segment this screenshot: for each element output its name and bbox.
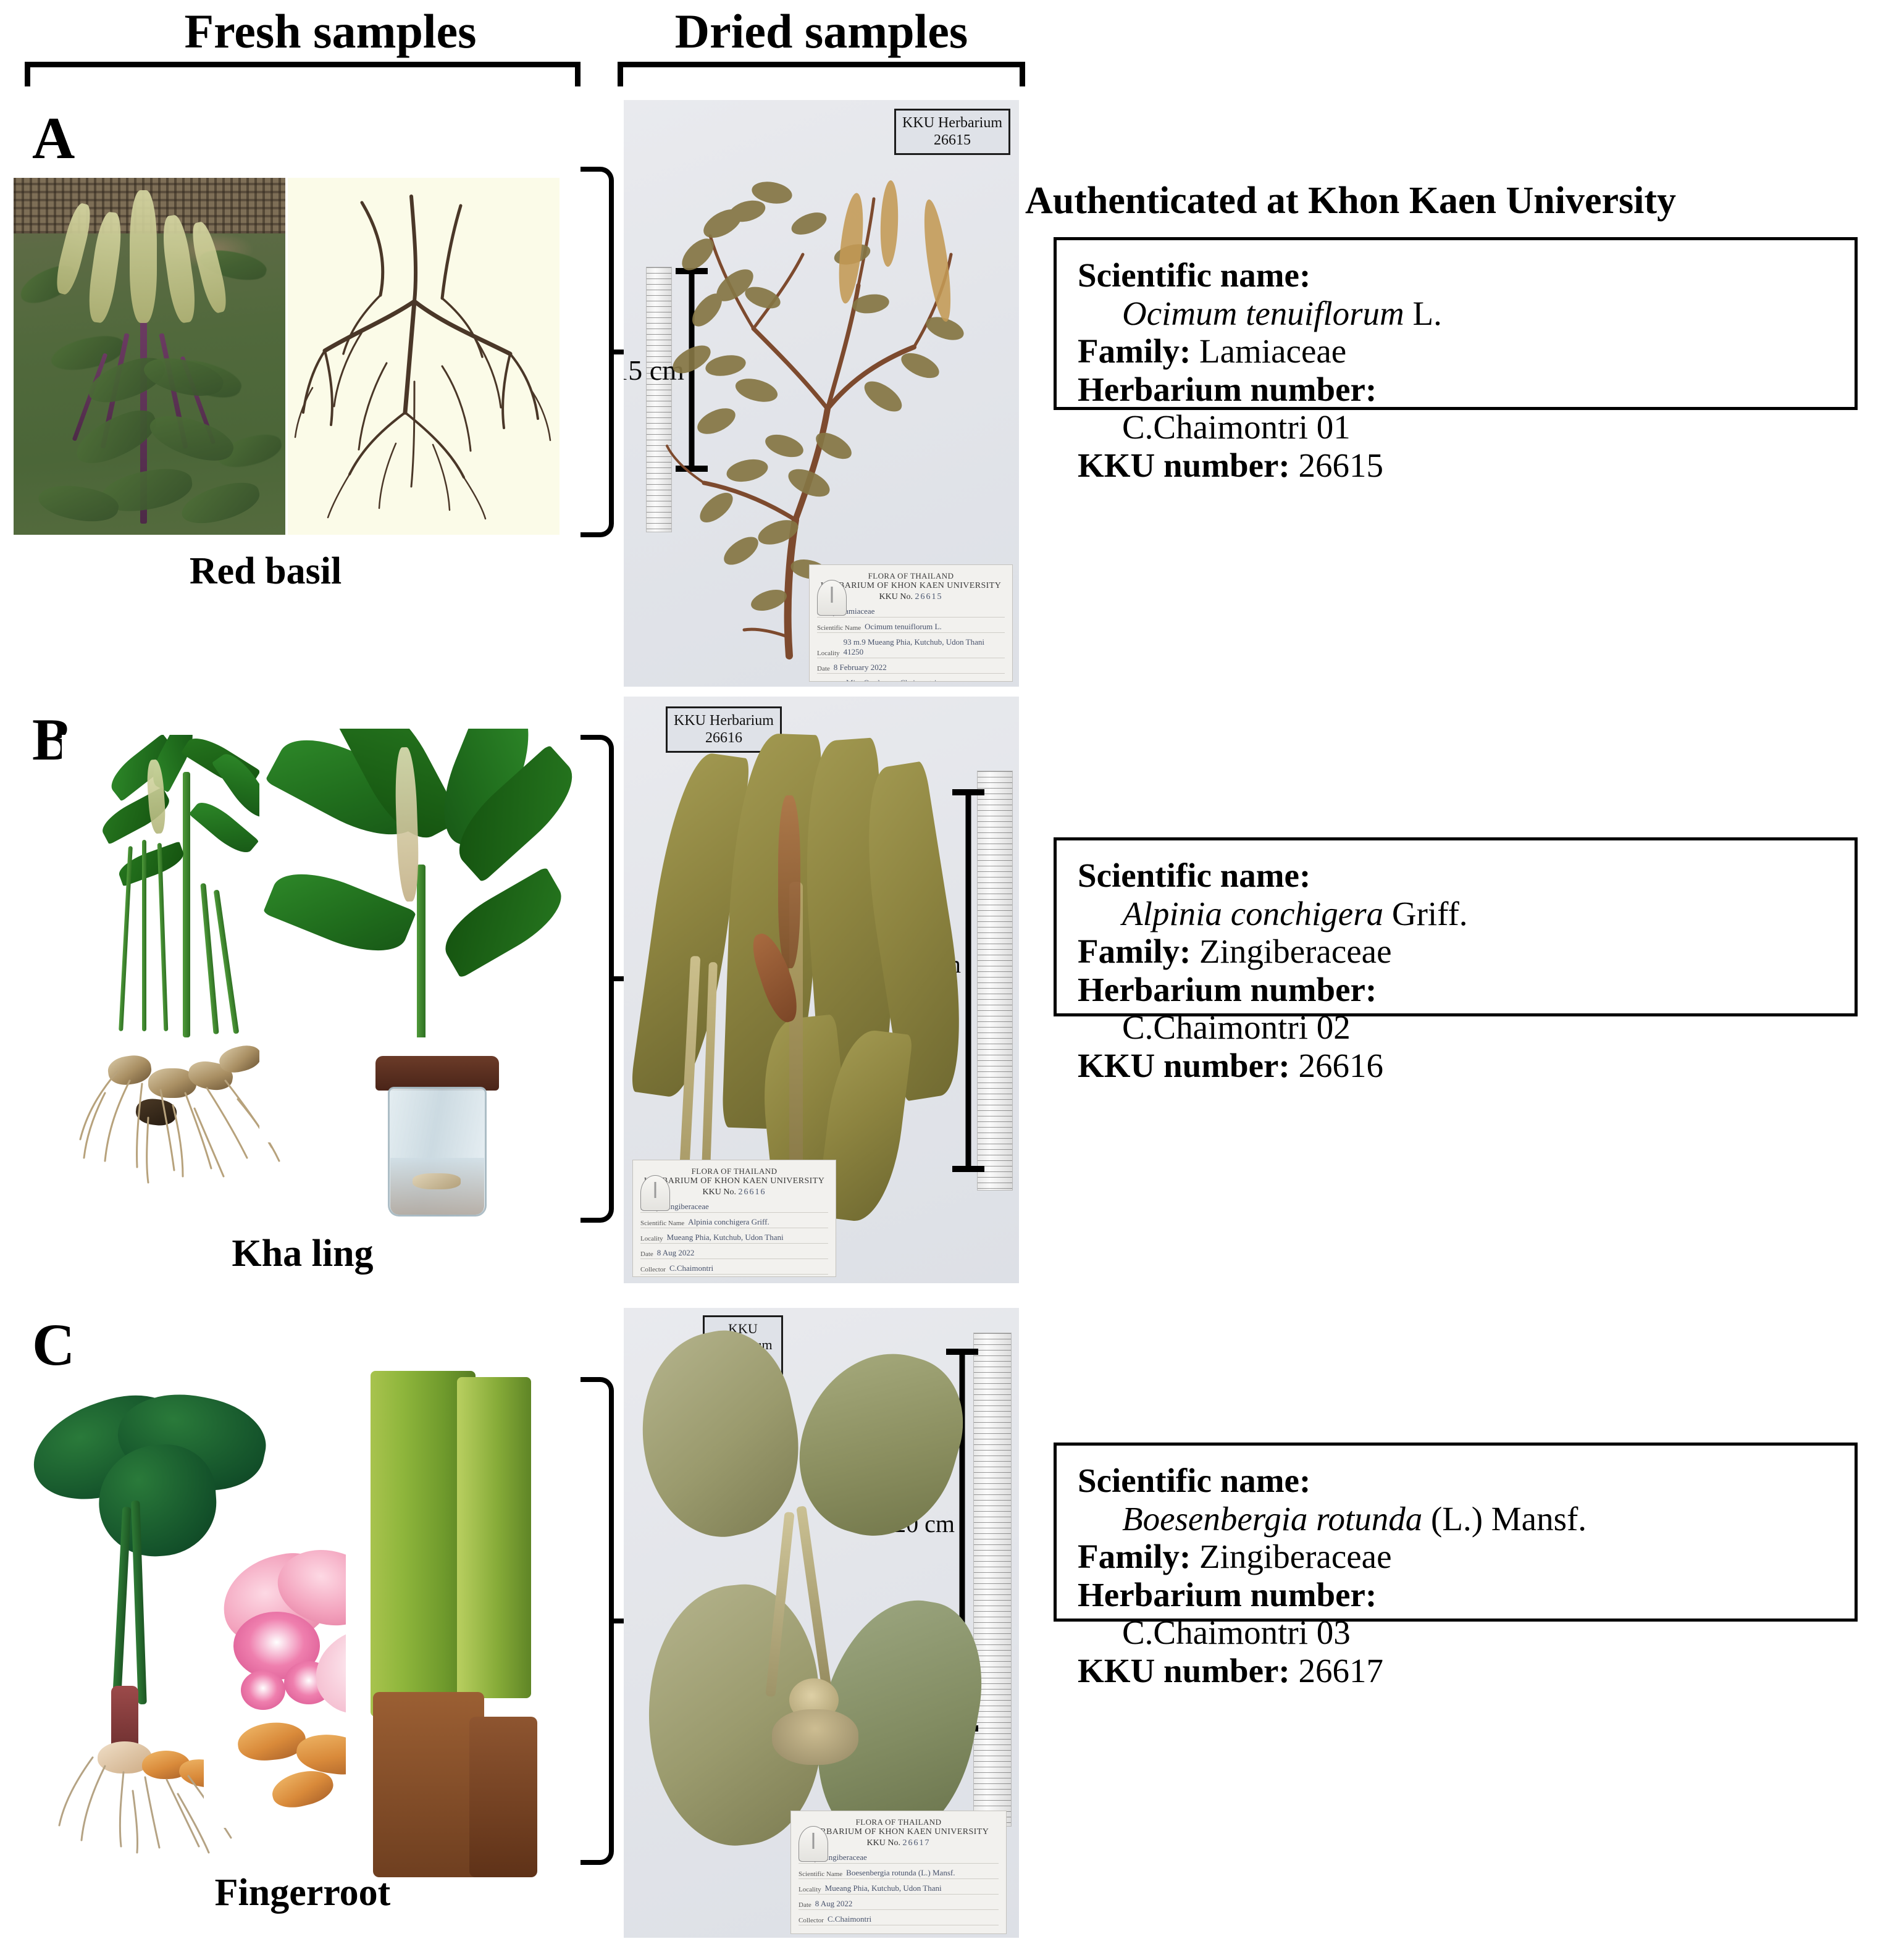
dried-specimen-sheet-a: KKU Herbarium 26615 15 cm	[624, 100, 1019, 687]
label-family-a: Family:	[1078, 332, 1191, 370]
fresh-photo-kha-ling-jar-sample	[351, 1037, 530, 1241]
voucher-field-date: Date	[799, 1901, 811, 1909]
value-authority-a: L.	[1404, 295, 1442, 332]
voucher-field-sciname: Scientific Name	[817, 624, 861, 632]
info-box-c: Scientific name: Boesenbergia rotunda (L…	[1054, 1443, 1858, 1622]
voucher-field-date: Date	[817, 665, 830, 672]
voucher-value-family-c: Zingiberaceae	[821, 1853, 999, 1862]
value-herbarium-number-b: C.Chaimontri 02	[1122, 1008, 1351, 1046]
value-authority-c: (L.) Mansf.	[1422, 1500, 1587, 1538]
label-herbarium-number-b: Herbarium number:	[1078, 971, 1377, 1008]
value-family-a: Lamiaceae	[1199, 332, 1346, 370]
figure-root: Fresh samples Dried samples A B C	[0, 0, 1878, 1960]
root-mass-illustration	[288, 178, 560, 535]
brace-connector-a	[581, 167, 614, 537]
dried-inflorescence	[778, 795, 800, 968]
voucher-kku-label: KKU No.	[879, 592, 913, 601]
column-header-fresh: Fresh samples	[80, 4, 581, 59]
label-kku-number-a: KKU number:	[1078, 446, 1290, 484]
voucher-field-sciname: Scientific Name	[799, 1870, 842, 1878]
voucher-value-sciname-a: Ocimum tenuiflorum L.	[865, 622, 1005, 632]
voucher-label-b: FLORA OF THAILAND HERBARIUM OF KHON KAEN…	[632, 1160, 836, 1277]
dried-rhizome	[772, 1709, 858, 1765]
voucher-value-sciname-c: Boesenbergia rotunda (L.) Mansf.	[846, 1868, 999, 1878]
label-scientific-name-a: Scientific name:	[1078, 256, 1310, 294]
fresh-photo-red-basil-roots	[288, 178, 560, 535]
voucher-field-sciname: Scientific Name	[640, 1220, 684, 1227]
value-herbarium-number-c: C.Chaimontri 03	[1122, 1614, 1351, 1651]
voucher-field-collector: Collector	[817, 681, 842, 682]
value-kku-number-a: 26615	[1299, 446, 1384, 484]
voucher-value-locality-a: 93 m.9 Mueang Phia, Kutchub, Udon Thani …	[844, 637, 1005, 657]
label-kku-number-c: KKU number:	[1078, 1652, 1290, 1690]
voucher-title-line2: HERBARIUM OF KHON KAEN UNIVERSITY	[799, 1827, 999, 1837]
brace-connector-b	[581, 735, 614, 1223]
voucher-value-collector-a: Miss Oradaporn Chaimontri	[846, 678, 1005, 682]
voucher-title-line1: FLORA OF THAILAND	[817, 571, 1005, 581]
label-family-c: Family:	[1078, 1538, 1191, 1575]
voucher-field-locality: Locality	[817, 650, 840, 657]
common-name-c: Fingerroot	[111, 1871, 494, 1915]
voucher-value-sciname-b: Alpinia conchigera Griff.	[688, 1217, 828, 1227]
voucher-field-locality: Locality	[640, 1235, 663, 1242]
value-authority-b: Griff.	[1383, 895, 1467, 932]
label-kku-number-b: KKU number:	[1078, 1047, 1290, 1084]
herbarium-seal-icon	[817, 580, 847, 616]
voucher-value-collector-b: C.Chaimontri	[669, 1263, 828, 1273]
info-box-a: Scientific name: Ocimum tenuiflorum L. F…	[1054, 237, 1858, 410]
voucher-kku-value-c: 26617	[902, 1838, 930, 1848]
brace-connector-c	[581, 1377, 614, 1865]
label-herbarium-number-a: Herbarium number:	[1078, 371, 1377, 408]
column-header-dried: Dried samples	[618, 4, 1025, 59]
voucher-value-locality-b: Mueang Phia, Kutchub, Udon Thani	[667, 1233, 828, 1242]
value-scientific-name-a: Ocimum tenuiflorum	[1122, 295, 1404, 332]
voucher-value-date-b: 8 Aug 2022	[657, 1248, 828, 1258]
voucher-value-locality-c: Mueang Phia, Kutchub, Udon Thani	[825, 1883, 999, 1893]
voucher-kku-label: KKU No.	[703, 1187, 736, 1197]
voucher-kku-value-b: 26616	[738, 1187, 766, 1197]
voucher-value-date-a: 8 February 2022	[834, 663, 1005, 672]
voucher-label-a: FLORA OF THAILAND HERBARIUM OF KHON KAEN…	[809, 564, 1013, 682]
voucher-title-line1: FLORA OF THAILAND	[799, 1817, 999, 1827]
herbarium-seal-icon	[799, 1826, 828, 1862]
voucher-field-date: Date	[640, 1250, 653, 1258]
value-herbarium-number-a: C.Chaimontri 01	[1122, 408, 1351, 446]
value-kku-number-b: 26616	[1299, 1047, 1384, 1084]
voucher-kku-value-a: 26615	[915, 592, 942, 601]
label-herbarium-number-c: Herbarium number:	[1078, 1576, 1377, 1614]
label-scientific-name-b: Scientific name:	[1078, 856, 1310, 894]
label-scientific-name-c: Scientific name:	[1078, 1462, 1310, 1499]
value-family-b: Zingiberaceae	[1199, 932, 1391, 970]
fresh-photo-fingerroot-pseudostem	[346, 1371, 543, 1883]
voucher-label-c: FLORA OF THAILAND HERBARIUM OF KHON KAEN…	[790, 1811, 1007, 1934]
authenticated-title: Authenticated at Khon Kaen University	[1025, 179, 1871, 223]
dried-specimen-sheet-b: KKU Herbarium 26616 15 cm FLORA OF THAIL…	[624, 697, 1019, 1283]
herbarium-seal-icon	[640, 1175, 670, 1211]
column-bracket-dried	[618, 62, 1025, 86]
voucher-value-date-c: 8 Aug 2022	[815, 1899, 999, 1909]
voucher-field-locality: Locality	[799, 1886, 821, 1893]
panel-letter-a: A	[32, 109, 75, 168]
voucher-field-collector: Collector	[640, 1266, 666, 1273]
voucher-kku-label: KKU No.	[867, 1838, 900, 1848]
ruler-c	[973, 1333, 1012, 1827]
value-kku-number-c: 26617	[1299, 1652, 1384, 1690]
label-family-b: Family:	[1078, 932, 1191, 970]
voucher-value-family-a: Lamiaceae	[840, 606, 1005, 616]
value-scientific-name-c: Boesenbergia rotunda	[1122, 1500, 1422, 1538]
panel-letter-c: C	[32, 1315, 75, 1375]
voucher-title-line1: FLORA OF THAILAND	[640, 1166, 828, 1176]
value-scientific-name-b: Alpinia conchigera	[1122, 895, 1383, 932]
column-bracket-fresh	[25, 62, 581, 86]
ruler-b	[977, 771, 1013, 1191]
common-name-a: Red basil	[74, 550, 457, 593]
value-family-c: Zingiberaceae	[1199, 1538, 1391, 1575]
voucher-value-family-b: Zingiberaceae	[663, 1202, 828, 1212]
voucher-value-collector-c: C.Chaimontri	[828, 1914, 999, 1924]
info-box-b: Scientific name: Alpinia conchigera Grif…	[1054, 837, 1858, 1016]
dried-specimen-sheet-c: KKU Herbarium 26617 20 cm FLORA OF THAIL…	[624, 1308, 1019, 1938]
voucher-field-collector: Collector	[799, 1917, 824, 1924]
common-name-b: Kha ling	[111, 1232, 494, 1276]
fresh-photo-red-basil-field	[14, 178, 285, 535]
